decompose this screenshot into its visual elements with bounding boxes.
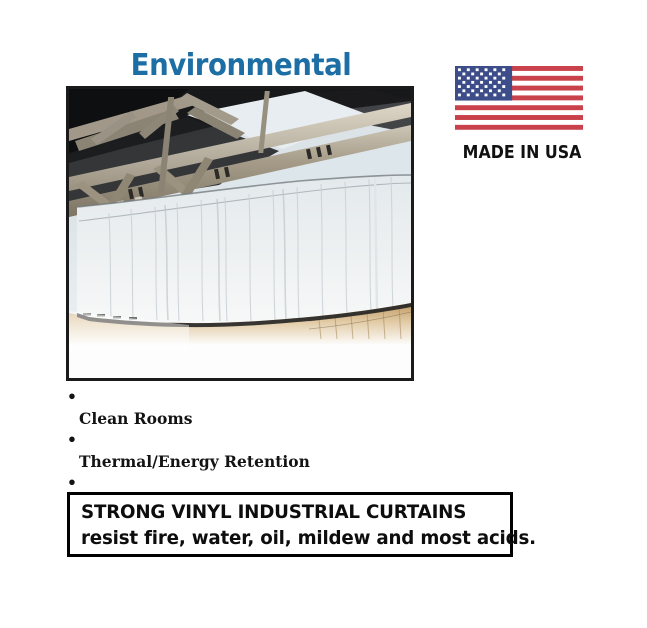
product-photo xyxy=(66,86,414,381)
list-item: •Thermal/Energy Retention xyxy=(66,429,426,472)
product-photo-image xyxy=(69,89,411,378)
bullet-icon: • xyxy=(67,429,77,451)
made-in-usa-label: MADE IN USA xyxy=(463,143,576,163)
bullet-icon: • xyxy=(67,472,77,494)
made-in-usa-badge: MADE IN USA xyxy=(455,66,585,171)
bullet-icon: • xyxy=(67,386,77,408)
list-item-label: Clean Rooms xyxy=(79,409,192,428)
callout-box: STRONG VINYL INDUSTRIAL CURTAINS resist … xyxy=(67,492,513,557)
callout-headline: STRONG VINYL INDUSTRIAL CURTAINS xyxy=(81,499,466,526)
callout-subtext: resist fire, water, oil, mildew and most… xyxy=(81,525,536,552)
list-item-label: Thermal/Energy Retention xyxy=(79,452,310,471)
list-item: •Clean Rooms xyxy=(66,386,426,429)
page-title: Environmental xyxy=(80,50,402,82)
usa-flag-icon xyxy=(455,66,583,130)
